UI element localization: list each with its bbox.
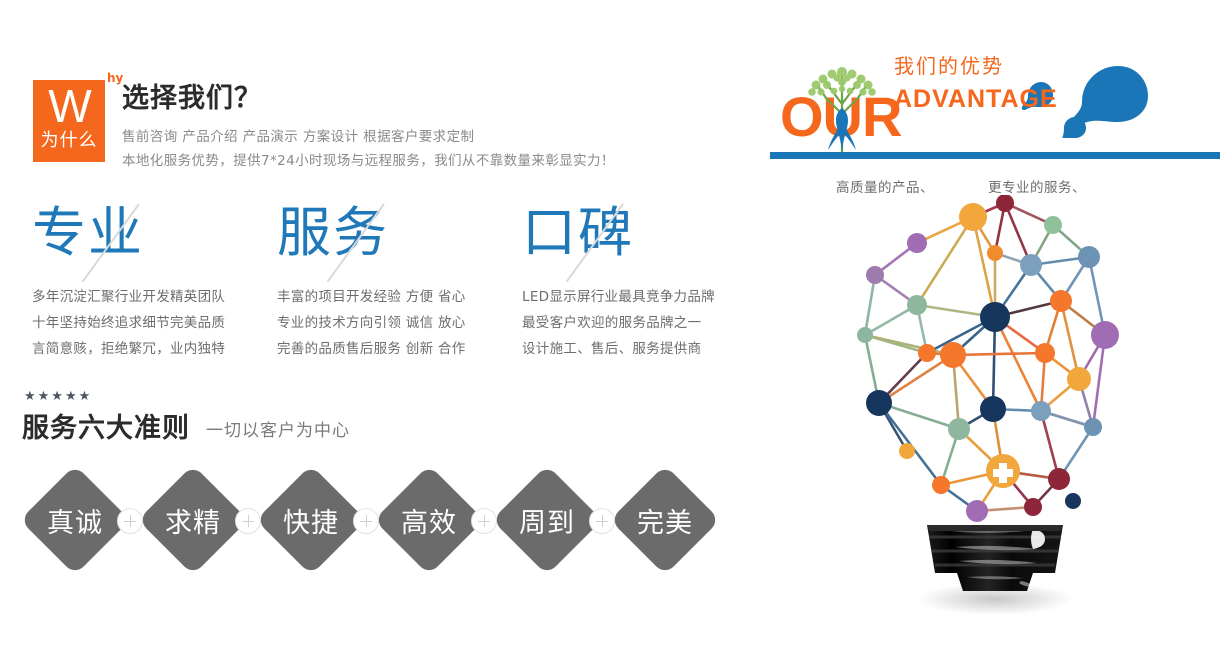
why-logo-caption: 为什么 [33,130,105,152]
feature-columns: 专业 多年沉淀汇聚行业开发精英团队 十年坚持始终追求细节完美品质 言简意赅，拒绝… [0,200,770,360]
feature-heading-wrap: 专业 [30,200,260,278]
feature-body: LED显示屏行业最具竞争力品牌 最受客户欢迎的服务品牌之一 设计施工、售后、服务… [522,284,770,362]
principle-label: 求精 [138,465,248,575]
advantage-en-title: ADVANTAGE [894,84,1058,114]
feature-line: 言简意赅，拒绝繁冗，业内独特 [32,336,280,362]
page-title: 选择我们？ [122,82,262,116]
advantage-cn-title: 我们的优势 [894,54,1004,78]
principle-label: 完美 [610,465,720,575]
principle-label: 周到 [492,465,602,575]
right-panel: OUR [770,0,1220,670]
feature-body: 多年沉淀汇聚行业开发精英团队 十年坚持始终追求细节完美品质 言简意赅，拒绝繁冗，… [32,284,280,362]
principle-label: 高效 [374,465,484,575]
blue-divider-bar [770,152,1220,159]
left-panel: W 为什么 hy 选择我们？ 售前咨询 产品介绍 产品演示 方案设计 根据客户要… [0,0,770,670]
feature-heading-wrap: 服务 [275,200,505,278]
principle-diamond[interactable]: 高效 [374,465,484,575]
principles-subtitle: 一切以客户为中心 [206,418,350,444]
feature-line: 专业的技术方向引领 诚信 放心 [277,310,525,336]
principle-diamond[interactable]: 快捷 [256,465,366,575]
infographic-canvas: W 为什么 hy 选择我们？ 售前咨询 产品介绍 产品演示 方案设计 根据客户要… [0,0,1220,670]
feature-line: LED显示屏行业最具竞争力品牌 [522,284,770,310]
subtitle-line-1: 售前咨询 产品介绍 产品演示 方案设计 根据客户要求定制 [122,127,474,147]
principle-label: 快捷 [256,465,366,575]
feature-line: 多年沉淀汇聚行业开发精英团队 [32,284,280,310]
feature-heading: 服务 [277,198,389,268]
principle-diamond[interactable]: 求精 [138,465,248,575]
tree-icon [792,58,892,158]
feature-line: 丰富的项目开发经验 方便 省心 [277,284,525,310]
feature-heading: 专业 [32,198,144,268]
principles-title: 服务六大准则 [22,410,190,448]
feature-column-reputation: 口碑 LED显示屏行业最具竞争力品牌 最受客户欢迎的服务品牌之一 设计施工、售后… [520,200,770,360]
network-lightbulb-graphic [855,195,1135,625]
subtitle-line-2: 本地化服务优势，提供7*24小时现场与远程服务，我们从不靠数量来彰显实力！ [122,151,615,171]
principles-diamond-row: 真诚求精快捷高效周到完美 [0,465,770,585]
why-logo: W 为什么 hy [33,80,105,162]
feature-body: 丰富的项目开发经验 方便 省心 专业的技术方向引领 诚信 放心 完善的品质售后服… [277,284,525,362]
feature-line: 最受客户欢迎的服务品牌之一 [522,310,770,336]
principle-diamond[interactable]: 完美 [610,465,720,575]
star-rating: ★★★★★ [24,390,92,403]
why-logo-superscript: hy [107,72,123,84]
feature-line: 十年坚持始终追求细节完美品质 [32,310,280,336]
feature-line: 设计施工、售后、服务提供商 [522,336,770,362]
feature-line: 完善的品质售后服务 创新 合作 [277,336,525,362]
why-logo-letter: W [33,82,105,130]
principle-diamond[interactable]: 周到 [492,465,602,575]
feature-column-professional: 专业 多年沉淀汇聚行业开发精英团队 十年坚持始终追求细节完美品质 言简意赅，拒绝… [30,200,280,360]
feature-heading-wrap: 口碑 [520,200,750,278]
feature-column-service: 服务 丰富的项目开发经验 方便 省心 专业的技术方向引领 诚信 放心 完善的品质… [275,200,525,360]
principle-label: 真诚 [20,465,130,575]
principle-diamond[interactable]: 真诚 [20,465,130,575]
